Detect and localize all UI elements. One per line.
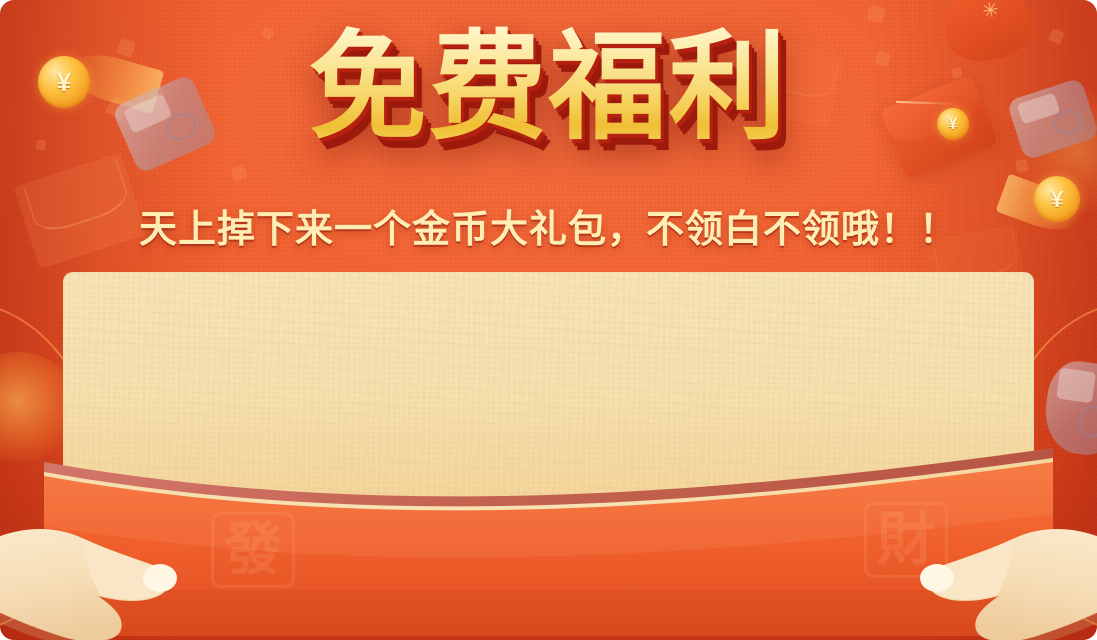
title-container: 免费福利 [0,24,1097,154]
gift-envelope[interactable]: 發 財 [63,272,1034,640]
envelope-pocket-shape [44,440,1053,640]
envelope-pocket-front: 發 財 [44,440,1053,640]
promo-banner: ¥ ✳ ¥ ¥ 免费福利 天上掉下来一个金币大礼包，不领白不领哦！！ [0,0,1097,640]
pocket-bottom-shade [44,590,1053,636]
confetti-square [1015,159,1029,173]
confetti-square [230,164,248,182]
page-title: 免费福利 [308,24,788,154]
page-subtitle: 天上掉下来一个金币大礼包，不领白不领哦！！ [139,198,958,253]
sparkle-icon: ✳ [978,0,1004,24]
subtitle-container: 天上掉下来一个金币大礼包，不领白不领哦！！ [0,198,1097,253]
confetti-square [867,5,886,24]
